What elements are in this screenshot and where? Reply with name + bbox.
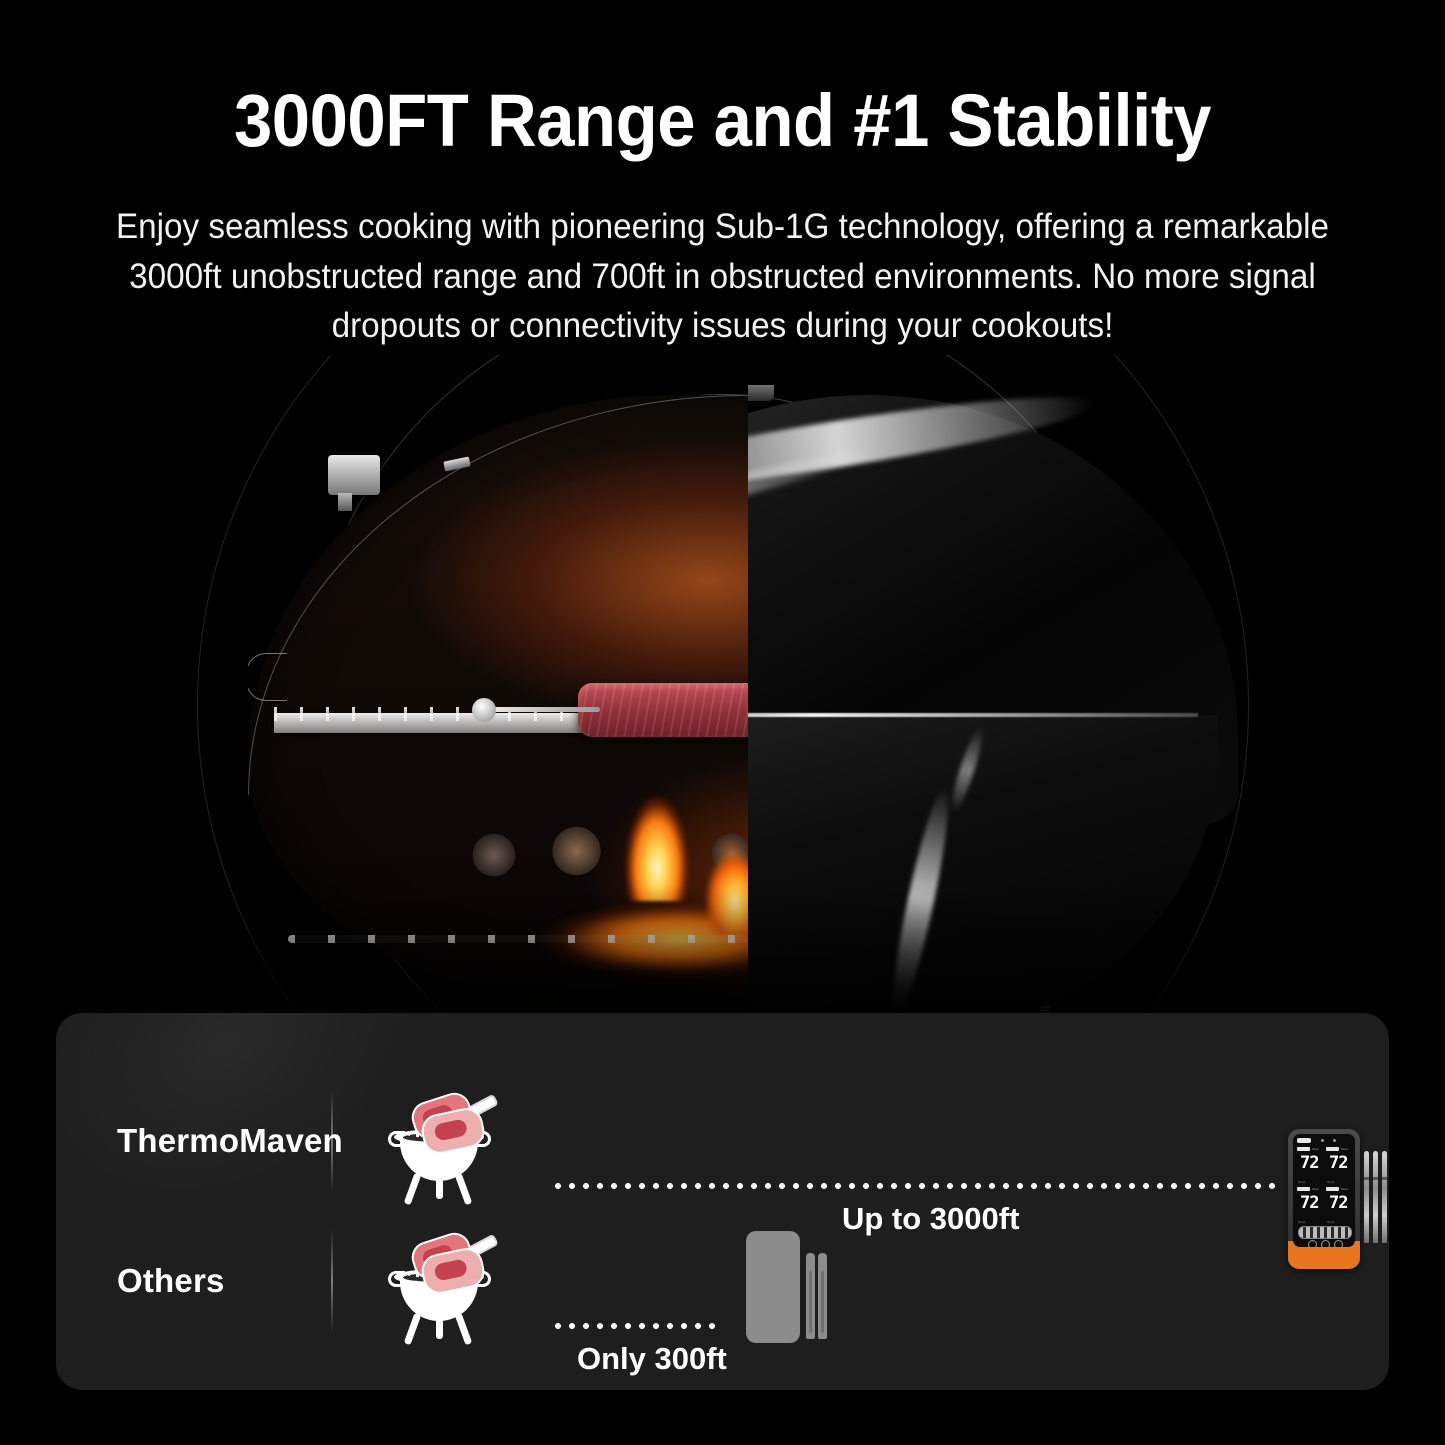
device-status-bar: [1297, 1138, 1311, 1143]
product-feature-page: 3000FT Range and #1 Stability Enjoy seam…: [0, 0, 1445, 1445]
device-indicator-1-icon: [1321, 1139, 1324, 1142]
grill-steak-icon: [378, 1219, 498, 1343]
readout-4-sub: Meat: [1341, 1187, 1348, 1191]
page-subcopy: Enjoy seamless cooking with pioneering S…: [84, 202, 1362, 351]
competitor-probe-1-icon: [806, 1253, 815, 1339]
readout-1-tag: [1297, 1147, 1310, 1151]
device-indicator-2-icon: [1333, 1139, 1336, 1142]
readout-4-tag: [1326, 1187, 1339, 1191]
readout-2-tag: [1326, 1147, 1339, 1151]
device-readout-2: Meat 72 Temp: [1325, 1147, 1352, 1185]
readout-3-sub: Meat: [1312, 1187, 1319, 1191]
comparison-row-others: Others Only 300ft: [56, 1211, 1389, 1351]
hero-grill-image: [0, 355, 1445, 1055]
competitor-device-body: [746, 1231, 800, 1343]
competitor-device: [746, 1231, 832, 1351]
flame-large: [620, 751, 694, 901]
row-divider: [331, 1229, 333, 1333]
readout-2-unit: Temp: [1327, 1180, 1334, 1184]
row-label-thermomaven: ThermoMaven: [117, 1071, 327, 1211]
grill-leg-left-icon: [404, 1173, 422, 1205]
grill-leg-right-icon: [455, 1173, 473, 1205]
grill-steak-icon: [378, 1079, 498, 1203]
grill-leg-right-icon: [455, 1313, 473, 1345]
lid-handle-icon: [328, 455, 380, 495]
competitor-probe-2-icon: [818, 1253, 827, 1339]
row-label-others: Others: [117, 1211, 327, 1351]
comparison-panel: ThermoMaven Up to 3000ft: [56, 1013, 1389, 1390]
side-hook-icon: [248, 653, 287, 701]
readout-4-value: 72: [1329, 1195, 1347, 1212]
readout-2-sub: Meat: [1341, 1147, 1348, 1151]
device-readout-1: Meat 72 Temp: [1296, 1147, 1323, 1185]
readout-1-unit: Temp: [1298, 1180, 1305, 1184]
probe-transmitter-icon: [472, 698, 496, 722]
signal-dots-short: [551, 1323, 723, 1329]
readout-3-tag: [1297, 1187, 1310, 1191]
readout-1-sub: Meat: [1312, 1147, 1319, 1151]
lid-knob-icon: [748, 385, 774, 401]
steak-on-grate: [578, 683, 748, 737]
range-label-others: Only 300ft: [577, 1341, 727, 1377]
readout-3-value: 72: [1300, 1195, 1318, 1212]
comparison-row-thermomaven: ThermoMaven Up to 3000ft: [56, 1071, 1389, 1211]
grill-leg-left-icon: [404, 1313, 422, 1345]
signal-dots-long: [551, 1183, 1281, 1189]
lid-seam: [748, 713, 1198, 717]
row-divider: [331, 1089, 333, 1193]
readout-1-value: 72: [1300, 1155, 1318, 1172]
probe-icon: [480, 707, 600, 712]
page-title: 3000FT Range and #1 Stability: [51, 82, 1395, 160]
readout-2-value: 72: [1329, 1155, 1347, 1172]
